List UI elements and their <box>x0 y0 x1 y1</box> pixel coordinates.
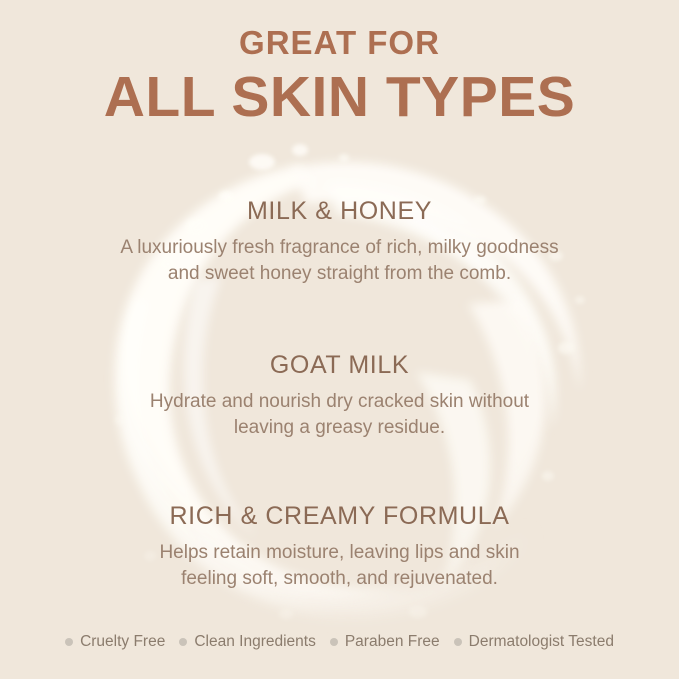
section-body-line: leaving a greasy residue. <box>0 415 679 442</box>
badge-paraben-free: Paraben Free <box>323 633 447 651</box>
section-body-rich-creamy-formula: Helps retain moisture, leaving lips and … <box>0 540 679 594</box>
section-body-line: and sweet honey straight from the comb. <box>0 261 679 288</box>
benefit-section-milk-honey: MILK & HONEY A luxuriously fresh fragran… <box>0 198 679 288</box>
badge-label: Paraben Free <box>345 633 440 651</box>
section-body-line: A luxuriously fresh fragrance of rich, m… <box>0 235 679 262</box>
section-title-goat-milk: GOAT MILK <box>0 352 679 380</box>
benefit-section-rich-creamy-formula: RICH & CREAMY FORMULA Helps retain moist… <box>0 503 679 593</box>
badge-dermatologist-tested: Dermatologist Tested <box>447 633 621 651</box>
bullet-dot-icon <box>454 638 462 646</box>
section-body-milk-honey: A luxuriously fresh fragrance of rich, m… <box>0 235 679 289</box>
page-title: ALL SKIN TYPES <box>0 67 679 129</box>
badge-label: Cruelty Free <box>80 633 165 651</box>
headline-block: GREAT FOR ALL SKIN TYPES <box>0 26 679 129</box>
poster-content: GREAT FOR ALL SKIN TYPES MILK & HONEY A … <box>0 0 679 679</box>
badge-clean-ingredients: Clean Ingredients <box>172 633 323 651</box>
section-title-rich-creamy-formula: RICH & CREAMY FORMULA <box>0 503 679 531</box>
bullet-dot-icon <box>330 638 338 646</box>
section-body-line: Helps retain moisture, leaving lips and … <box>0 540 679 567</box>
section-body-line: feeling soft, smooth, and rejuvenated. <box>0 566 679 593</box>
product-benefits-poster: GREAT FOR ALL SKIN TYPES MILK & HONEY A … <box>0 0 679 679</box>
badge-label: Clean Ingredients <box>194 633 316 651</box>
badge-cruelty-free: Cruelty Free <box>58 633 172 651</box>
certification-badge-row: Cruelty Free Clean Ingredients Paraben F… <box>0 633 679 651</box>
kicker-text: GREAT FOR <box>0 26 679 59</box>
benefit-section-goat-milk: GOAT MILK Hydrate and nourish dry cracke… <box>0 352 679 442</box>
badge-label: Dermatologist Tested <box>469 633 614 651</box>
section-title-milk-honey: MILK & HONEY <box>0 198 679 226</box>
section-body-line: Hydrate and nourish dry cracked skin wit… <box>0 389 679 416</box>
bullet-dot-icon <box>179 638 187 646</box>
section-body-goat-milk: Hydrate and nourish dry cracked skin wit… <box>0 389 679 443</box>
bullet-dot-icon <box>65 638 73 646</box>
